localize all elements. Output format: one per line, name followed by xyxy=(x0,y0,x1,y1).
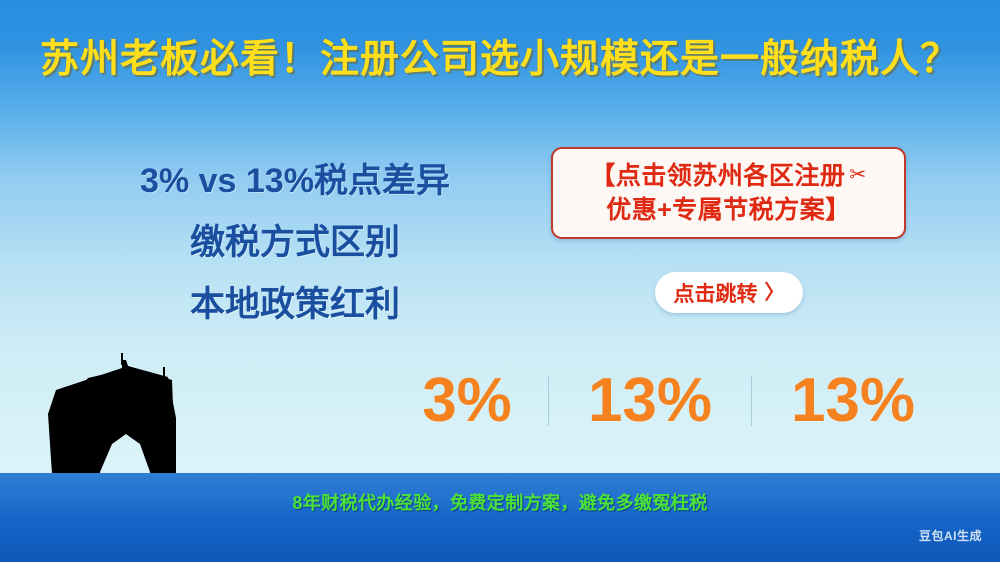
chevron-right-icon: 〉 xyxy=(765,283,785,303)
page-title: 苏州老板必看！注册公司选小规模还是一般纳税人？ xyxy=(0,28,1000,84)
scissors-icon: ✂ xyxy=(849,165,866,185)
benefit-item-1: 3% vs 13%税点差异 xyxy=(70,150,520,212)
poster-canvas: 苏州老板必看！注册公司选小规模还是一般纳税人？ 3% vs 13%税点差异 缴税… xyxy=(0,0,1000,562)
footer-tagline: 8年财税代办经验，免费定制方案，避免多缴冤枉税 xyxy=(0,489,1000,515)
tax-rate-value-2: 13% xyxy=(555,365,745,437)
tax-rate-value-3: 13% xyxy=(758,365,948,437)
jump-button-label: 点击跳转 xyxy=(674,278,758,308)
tax-rate-value-1: 3% xyxy=(392,365,542,437)
tax-rate-divider-1 xyxy=(548,376,549,426)
jump-button[interactable]: 点击跳转 〉 xyxy=(655,272,803,313)
footer-band xyxy=(0,473,1000,562)
offer-card-line-2: 优惠+专属节税方案】 xyxy=(606,193,851,227)
offer-card-text-1: 【点击领苏州各区注册 xyxy=(590,159,845,193)
ai-watermark: 豆包AI生成 xyxy=(919,527,982,544)
offer-card-line-1: 【点击领苏州各区注册 ✂ xyxy=(590,159,866,193)
tax-rate-row: 3% 13% 13% xyxy=(392,365,1000,437)
offer-card[interactable]: 【点击领苏州各区注册 ✂ 优惠+专属节税方案】 xyxy=(551,147,906,239)
benefit-item-3: 本地政策红利 xyxy=(70,274,520,336)
benefit-list: 3% vs 13%税点差异 缴税方式区别 本地政策红利 xyxy=(70,150,520,336)
benefit-item-2: 缴税方式区别 xyxy=(70,212,520,274)
tax-rate-divider-2 xyxy=(751,376,752,426)
